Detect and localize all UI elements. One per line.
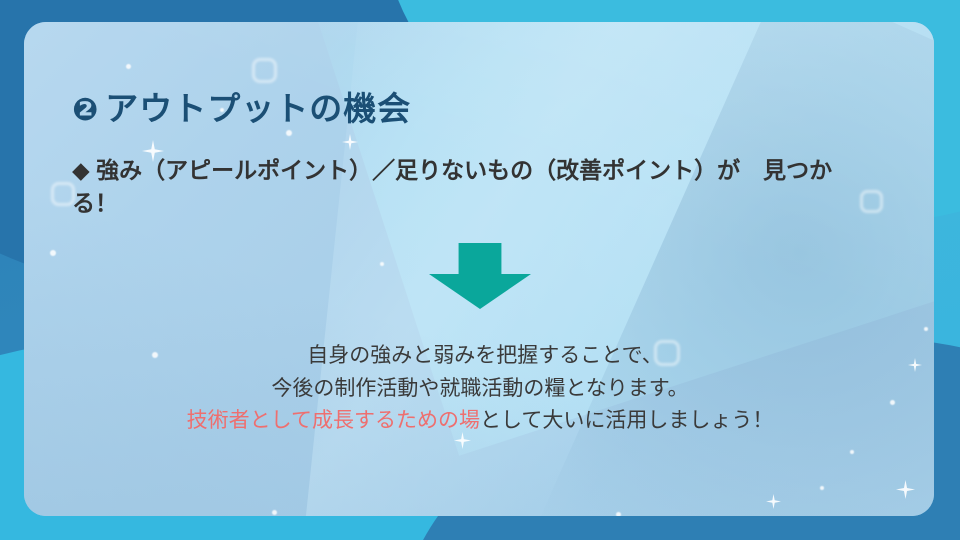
body-line-2: 今後の制作活動や就職活動の糧となります。 xyxy=(0,373,960,406)
title-text: アウトプットの機会 xyxy=(105,90,411,127)
page-title: ❷アウトプットの機会 xyxy=(72,82,411,130)
down-arrow-icon xyxy=(429,243,531,309)
presentation-slide: ❷アウトプットの機会 ◆ 強み（アピールポイント）／足りないもの（改善ポイント）… xyxy=(0,0,960,540)
title-number-glyph: ❷ xyxy=(72,92,99,127)
body-line-1: 自身の強みと弱みを把握することで、 xyxy=(0,340,960,373)
slide-content: ❷アウトプットの機会 ◆ 強み（アピールポイント）／足りないもの（改善ポイント）… xyxy=(0,0,960,540)
body-line-3: 技術者として成長するための場として大いに活用しましょう！ xyxy=(0,405,960,438)
body-line-3-rest: として大いに活用しましょう！ xyxy=(480,409,773,432)
arrow-container xyxy=(0,243,960,309)
subheading-text: ◆ 強み（アピールポイント）／足りないもの（改善ポイント）が 見つかる！ xyxy=(72,154,872,221)
body-text-block: 自身の強みと弱みを把握することで、 今後の制作活動や就職活動の糧となります。 技… xyxy=(0,340,960,438)
body-line-3-highlight: 技術者として成長するための場 xyxy=(187,409,480,432)
